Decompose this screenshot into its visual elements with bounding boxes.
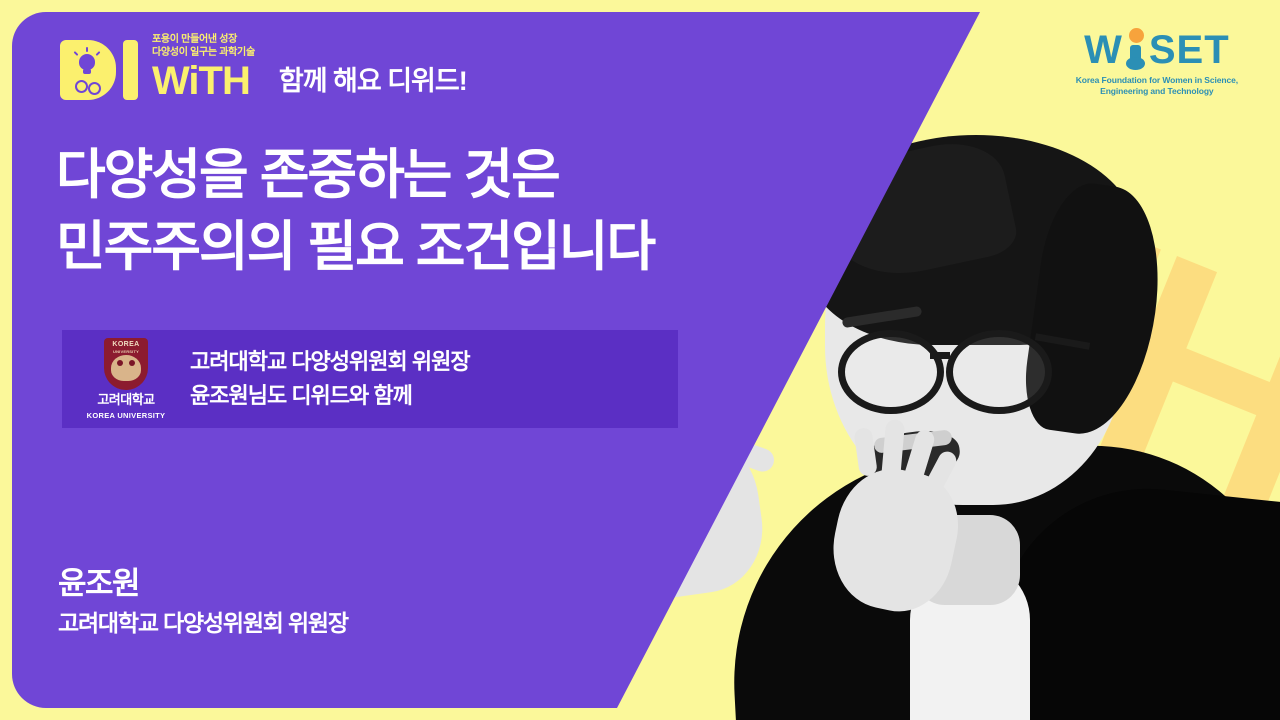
di-logo-mark (60, 40, 138, 100)
tiger-emblem-icon (111, 355, 141, 381)
university-name-kr: 고려대학교 (97, 393, 154, 407)
headline-line-1: 다양성을 존중하는 것은 (56, 140, 654, 212)
banner-canvas: WiTH (0, 0, 1280, 720)
gear-icon-2 (88, 82, 101, 95)
letter-d-icon (60, 40, 116, 100)
wiset-subtitle: Korea Foundation for Women in Science, E… (1076, 75, 1238, 98)
brand-tagline: 포용이 만들어낸 성장 다양성이 일구는 과학기술 (152, 34, 255, 59)
di-logo-text: 포용이 만들어낸 성장 다양성이 일구는 과학기술 WiTH (152, 34, 255, 100)
wiset-subtitle-1: Korea Foundation for Women in Science, (1076, 75, 1238, 86)
lightbulb-icon (74, 52, 100, 78)
wiset-logo[interactable]: W SET Korea Foundation for Women in Scie… (1076, 30, 1238, 98)
info-box: KOREA UNIVERSITY 고려대학교 KOREA UNIVERSITY … (62, 330, 678, 428)
university-name-en: KOREA UNIVERSITY (87, 411, 166, 420)
tagline-line-1: 포용이 만들어낸 성장 (152, 34, 255, 47)
info-box-text: 고려대학교 다양성위원회 위원장 윤조원님도 디위드와 함께 (190, 345, 470, 413)
photo-glasses-left (838, 330, 944, 414)
speaker-name: 윤조원 (58, 565, 348, 604)
brand-slogan: 함께 해요 디위드! (279, 59, 467, 100)
photo-glasses-right (946, 330, 1052, 414)
photo-glasses-bridge (930, 352, 950, 359)
letter-i-icon (123, 40, 138, 100)
tagline-line-2: 다양성이 일구는 과학기술 (152, 47, 255, 60)
speaker-credit: 윤조원 고려대학교 다양성위원회 위원장 (58, 565, 348, 639)
info-line-2: 윤조원님도 디위드와 함께 (190, 379, 470, 413)
crest-bottom-text: UNIVERSITY (113, 349, 139, 354)
gear-icon (75, 80, 88, 93)
speaker-title: 고려대학교 다양성위원회 위원장 (58, 609, 348, 639)
wiset-set: SET (1149, 30, 1230, 70)
with-wordmark: WiTH (152, 62, 255, 100)
headline: 다양성을 존중하는 것은 민주주의의 필요 조건입니다 (56, 140, 654, 284)
headline-line-2: 민주주의의 필요 조건입니다 (56, 212, 654, 284)
wiset-i-icon (1123, 30, 1149, 70)
di-with-logo[interactable]: 포용이 만들어낸 성장 다양성이 일구는 과학기술 WiTH 함께 해요 디위드… (60, 34, 467, 100)
university-crest-icon: KOREA UNIVERSITY (104, 338, 148, 390)
wiset-wordmark: W SET (1076, 30, 1238, 70)
korea-university-logo: KOREA UNIVERSITY 고려대학교 KOREA UNIVERSITY (62, 338, 190, 419)
wiset-subtitle-2: Engineering and Technology (1076, 86, 1238, 97)
wiset-w: W (1084, 30, 1123, 70)
crest-top-text: KOREA (112, 341, 139, 348)
info-line-1: 고려대학교 다양성위원회 위원장 (190, 345, 470, 379)
